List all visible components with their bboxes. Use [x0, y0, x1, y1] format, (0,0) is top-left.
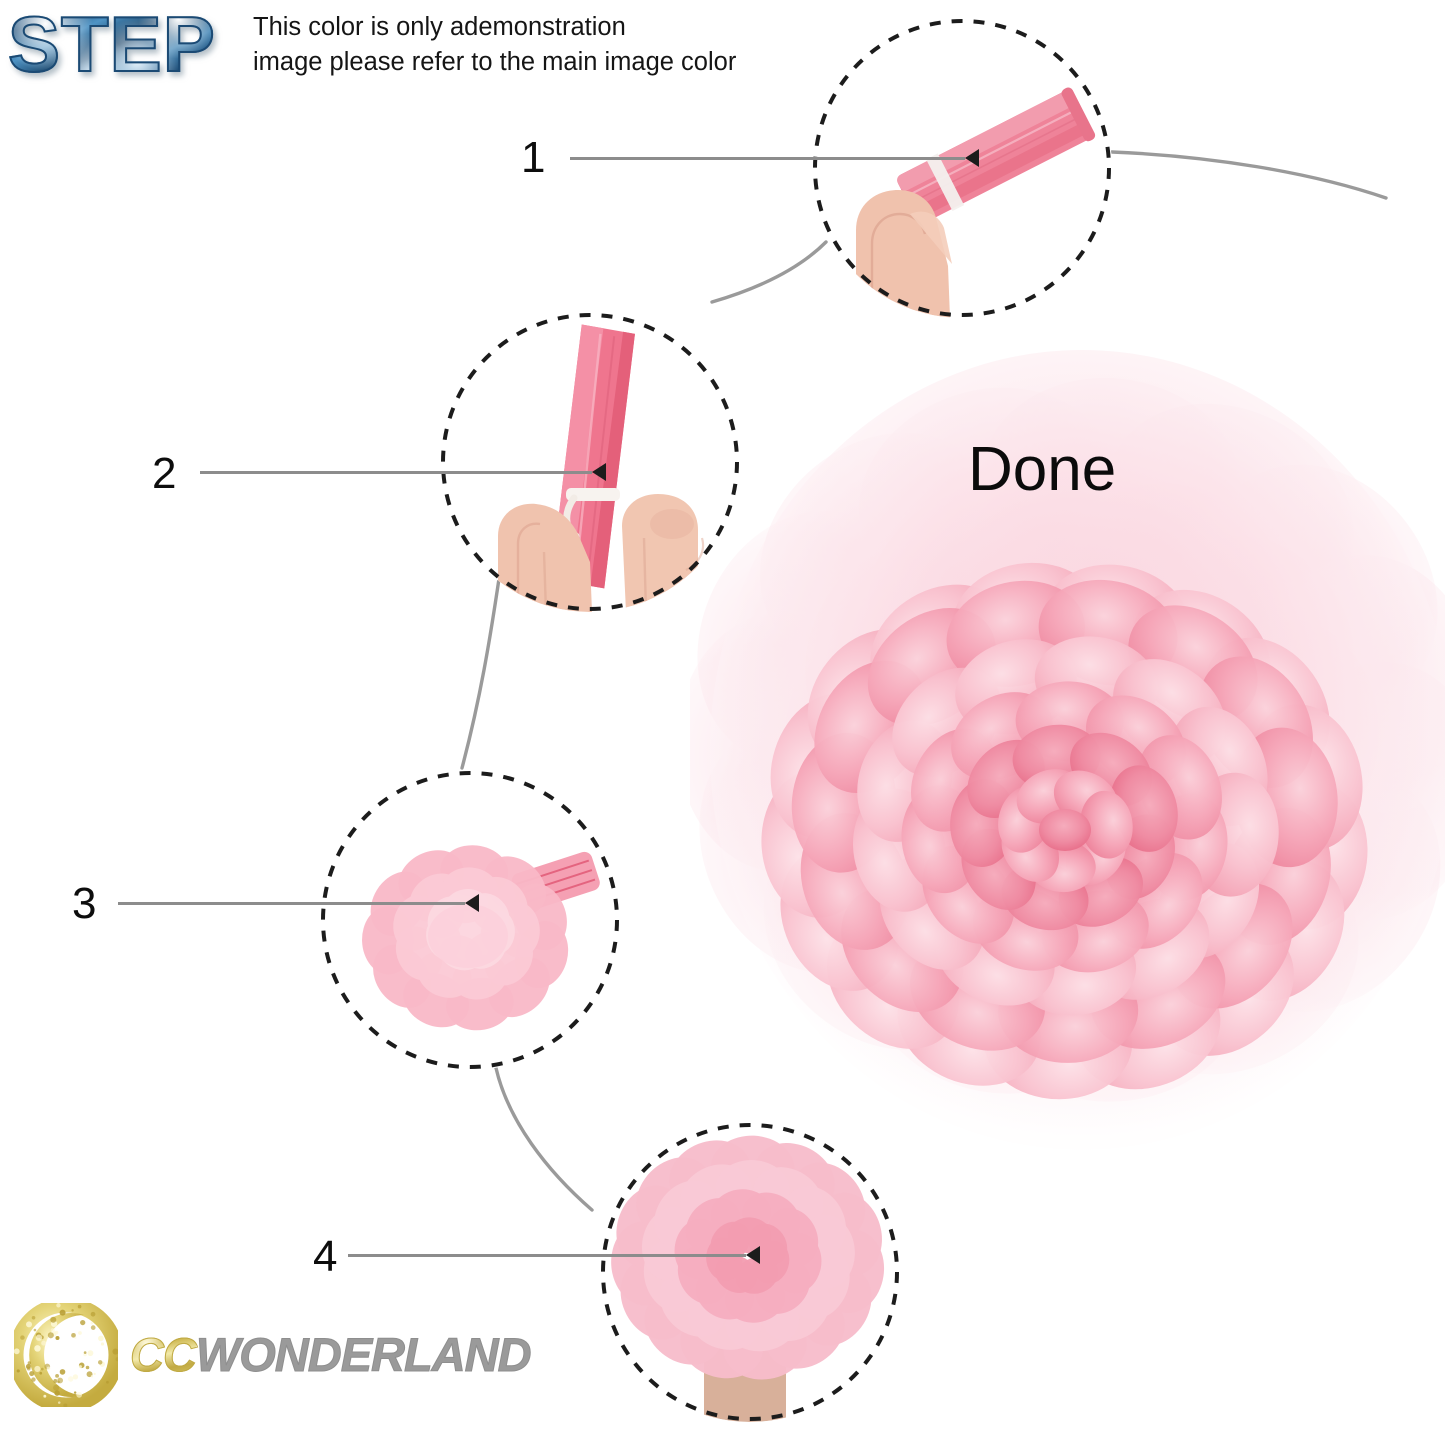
step-circle-2	[440, 312, 740, 612]
brand-wonderland: WONDERLAND	[196, 1328, 531, 1381]
brand-text: CCWONDERLAND	[130, 1330, 531, 1380]
connector-2-to-3	[462, 572, 500, 768]
leader-line-4	[348, 1254, 746, 1257]
step-4-photo	[600, 1122, 900, 1422]
step-number-2: 2	[152, 452, 176, 496]
leader-line-2	[200, 471, 592, 474]
leader-line-3	[118, 902, 465, 905]
connector-tail-right	[1112, 152, 1386, 198]
leader-line-1	[570, 157, 965, 160]
leader-arrow-1	[965, 149, 979, 167]
leader-arrow-2	[592, 463, 606, 481]
leader-arrow-4	[746, 1246, 760, 1264]
done-label: Done	[968, 437, 1116, 503]
step-circle-3	[320, 770, 620, 1070]
step-3-photo	[320, 770, 620, 1070]
step-logo: STEP	[8, 2, 216, 86]
finished-pompom-image	[745, 540, 1385, 1100]
header: STEP This color is only ademonstration i…	[0, 0, 900, 100]
step-number-3: 3	[72, 882, 96, 926]
header-note-line-1: This color is only ademonstration	[253, 10, 873, 45]
connector-1-to-2	[712, 242, 826, 302]
header-note-line-2: image please refer to the main image col…	[253, 45, 873, 80]
brand-cc: CC	[130, 1328, 196, 1381]
instruction-diagram: STEP This color is only ademonstration i…	[0, 0, 1445, 1432]
step-number-4: 4	[313, 1235, 337, 1279]
step-2-photo	[440, 312, 740, 612]
header-note: This color is only ademonstration image …	[253, 10, 873, 80]
step-number-1: 1	[521, 136, 545, 180]
crescent-moon-glitter-icon	[14, 1303, 118, 1407]
leader-arrow-3	[465, 894, 479, 912]
step-circle-4	[600, 1122, 900, 1422]
brand-logo: CCWONDERLAND	[14, 1300, 531, 1410]
connector-3-to-4	[496, 1068, 592, 1210]
